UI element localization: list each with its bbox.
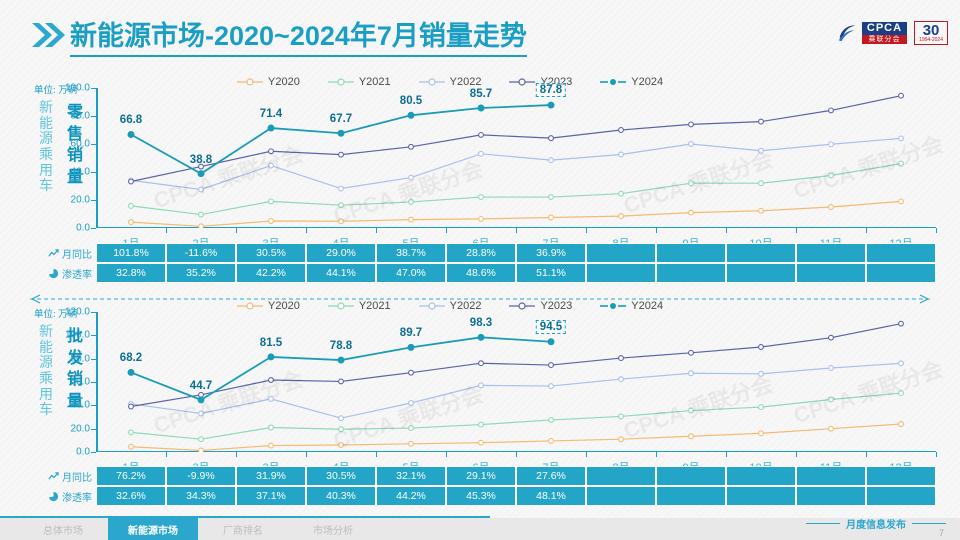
cpca-mark-icon <box>836 22 858 44</box>
data-point <box>899 199 904 204</box>
data-point <box>829 366 834 371</box>
legend-swatch-y2023 <box>507 76 537 88</box>
data-point <box>269 199 274 204</box>
row-header: 渗透率 <box>48 263 94 283</box>
row-header: 月同比 <box>48 243 94 263</box>
table-cell <box>866 263 936 283</box>
x-tick-mark <box>306 452 307 457</box>
data-point <box>689 371 694 376</box>
row-header: 月同比 <box>48 466 94 486</box>
pie-chart-icon <box>48 268 59 279</box>
x-tick-mark <box>936 228 937 233</box>
series-y2021 <box>129 161 904 217</box>
legend-wholesale: Y2020Y2021Y2022Y2023Y2024 <box>235 300 663 312</box>
data-point <box>408 344 414 350</box>
table-retail: 月同比101.8%-11.6%30.5%29.0%38.7%28.8%36.9%… <box>96 243 936 283</box>
table-cell: 29.1% <box>446 466 516 486</box>
data-point <box>899 161 904 166</box>
table-cell: 32.8% <box>96 263 166 283</box>
data-point <box>199 187 204 192</box>
data-point <box>619 414 624 419</box>
legend-label-y2021: Y2021 <box>359 76 391 88</box>
data-point <box>759 431 764 436</box>
data-point <box>129 203 134 208</box>
table-cell <box>656 263 726 283</box>
row-header-label: 月同比 <box>62 469 92 484</box>
footer-label: 月度信息发布 <box>846 516 906 531</box>
legend-swatch-y2023 <box>507 300 537 312</box>
data-point <box>409 426 414 431</box>
table-cell: 48.6% <box>446 263 516 283</box>
legend-item-y2020[interactable]: Y2020 <box>235 300 300 312</box>
data-point <box>549 439 554 444</box>
data-point <box>548 102 554 108</box>
data-point <box>619 214 624 219</box>
data-point <box>339 203 344 208</box>
table-cell: -11.6% <box>166 243 236 263</box>
data-point <box>549 384 554 389</box>
data-point-label: 71.4 <box>260 108 282 120</box>
cpca-logo: CPCA 乘联分会 <box>836 22 907 44</box>
data-point <box>479 151 484 156</box>
data-point <box>269 443 274 448</box>
data-point <box>899 93 904 98</box>
table-row: 渗透率32.6%34.3%37.1%40.3%44.2%45.3%48.1% <box>96 486 936 506</box>
data-point <box>479 195 484 200</box>
data-point <box>268 125 274 131</box>
table-cell: 51.1% <box>516 263 586 283</box>
x-tick-mark <box>376 228 377 233</box>
legend-item-y2024[interactable]: Y2024 <box>598 76 663 88</box>
footer-tab[interactable]: 新能源市场 <box>108 518 198 540</box>
table-cell: 37.1% <box>236 486 306 506</box>
y-tick-label: 80.0 <box>71 353 90 364</box>
data-point <box>479 422 484 427</box>
y-tick-label: 120.0 <box>65 307 90 318</box>
y-tick-label: 60.0 <box>71 139 90 150</box>
data-point <box>128 131 134 137</box>
legend-label-y2024: Y2024 <box>631 76 663 88</box>
row-header-label: 月同比 <box>62 246 92 261</box>
series-y2022 <box>129 361 904 421</box>
data-point <box>479 133 484 138</box>
data-point <box>549 363 554 368</box>
x-tick-mark <box>446 228 447 233</box>
slide-canvas: 新能源市场-2020~2024年7月销量走势 CPCA 乘联分会 30 1994… <box>0 0 960 540</box>
series-y2020 <box>129 422 904 452</box>
data-point-label: 80.5 <box>400 95 422 107</box>
data-point <box>129 404 134 409</box>
series-y2023 <box>129 321 904 409</box>
data-point <box>829 108 834 113</box>
x-tick-mark <box>516 228 517 233</box>
data-point <box>689 181 694 186</box>
data-point <box>689 434 694 439</box>
y-tick-label: 80.0 <box>71 111 90 122</box>
table-cell: 45.3% <box>446 486 516 506</box>
footer-tab[interactable]: 总体市场 <box>18 518 108 540</box>
data-point <box>689 122 694 127</box>
table-cell: 101.8% <box>96 243 166 263</box>
data-point-label: 68.2 <box>120 352 142 364</box>
data-point <box>619 191 624 196</box>
legend-item-y2024[interactable]: Y2024 <box>598 300 663 312</box>
data-point-label: 78.8 <box>330 340 352 352</box>
data-point <box>339 152 344 157</box>
table-cell: 48.1% <box>516 486 586 506</box>
table-cell: 34.3% <box>166 486 236 506</box>
table-cell <box>586 243 656 263</box>
table-cell: 32.1% <box>376 466 446 486</box>
x-tick-mark <box>236 228 237 233</box>
data-point <box>759 405 764 410</box>
data-point <box>199 212 204 217</box>
table-row: 月同比101.8%-11.6%30.5%29.0%38.7%28.8%36.9% <box>96 243 936 263</box>
data-point-label: 67.7 <box>330 113 352 125</box>
data-point <box>198 171 204 177</box>
table-cell <box>726 486 796 506</box>
data-point-label: 66.8 <box>120 114 142 126</box>
anniversary-years: 1994-2024 <box>919 38 943 43</box>
data-point <box>549 418 554 423</box>
data-point <box>129 444 134 449</box>
y-tick-label: 40.0 <box>71 167 90 178</box>
chart-plot-retail: 0.020.040.060.080.0100.01月2月3月4月5月6月7月8月… <box>96 88 936 228</box>
data-point <box>129 220 134 225</box>
line-chart-icon <box>48 248 59 259</box>
table-cell: 30.5% <box>236 243 306 263</box>
legend-swatch-y2021 <box>326 300 356 312</box>
x-tick-mark <box>726 452 727 457</box>
data-point <box>829 173 834 178</box>
legend-swatch-y2022 <box>417 300 447 312</box>
data-point <box>269 149 274 154</box>
data-point <box>339 443 344 448</box>
data-point <box>199 224 204 228</box>
footer-tabs[interactable]: 总体市场新能源市场厂商排名市场分析 <box>18 518 378 540</box>
data-point <box>899 321 904 326</box>
table-cell: 44.2% <box>376 486 446 506</box>
legend-item-y2023[interactable]: Y2023 <box>507 300 572 312</box>
data-point <box>829 426 834 431</box>
data-point-label: 89.7 <box>400 327 422 339</box>
data-point-label: 44.7 <box>190 380 212 392</box>
page-title: 新能源市场-2020~2024年7月销量走势 <box>70 14 527 57</box>
data-point <box>829 397 834 402</box>
legend-item-y2022[interactable]: Y2022 <box>417 76 482 88</box>
footer-right: 月度信息发布 <box>806 516 946 531</box>
data-point <box>478 105 484 111</box>
row-header-label: 渗透率 <box>62 489 92 504</box>
x-tick-mark <box>656 228 657 233</box>
data-point <box>689 350 694 355</box>
data-point <box>619 356 624 361</box>
data-point <box>759 208 764 213</box>
data-point-label: 38.8 <box>190 154 212 166</box>
table-cell <box>796 466 866 486</box>
table-cell: 36.9% <box>516 243 586 263</box>
table-cell <box>726 263 796 283</box>
legend-swatch-y2020 <box>235 76 265 88</box>
data-point <box>338 130 344 136</box>
table-cell: 35.2% <box>166 263 236 283</box>
data-point <box>198 397 204 403</box>
y-tick-label: 0.0 <box>76 447 90 458</box>
legend-swatch-y2020 <box>235 300 265 312</box>
category-label-retail: 新能源乘用车 <box>36 100 56 194</box>
data-point <box>339 186 344 191</box>
table-cell: 30.5% <box>306 466 376 486</box>
data-point <box>409 200 414 205</box>
table-cell <box>796 486 866 506</box>
legend-swatch-y2024 <box>598 76 628 88</box>
double-chevron-right-icon <box>30 20 66 50</box>
y-tick-label: 40.0 <box>71 400 90 411</box>
footer-tab[interactable]: 厂商排名 <box>198 518 288 540</box>
data-point <box>689 142 694 147</box>
legend-swatch-y2022 <box>417 76 447 88</box>
table-cell: 27.6% <box>516 466 586 486</box>
table-cell: 42.2% <box>236 263 306 283</box>
legend-item-y2022[interactable]: Y2022 <box>417 300 482 312</box>
x-tick-mark <box>306 228 307 233</box>
data-point <box>619 377 624 382</box>
data-point-label: 81.5 <box>260 337 282 349</box>
x-tick-mark <box>796 452 797 457</box>
x-tick-mark <box>236 452 237 457</box>
table-cell <box>726 243 796 263</box>
cpca-subname: 乘联分会 <box>862 35 907 44</box>
table-cell: -9.9% <box>166 466 236 486</box>
line-chart-icon <box>48 471 59 482</box>
header: 新能源市场-2020~2024年7月销量走势 CPCA 乘联分会 30 1994… <box>0 0 960 66</box>
x-tick-mark <box>656 452 657 457</box>
data-point <box>129 430 134 435</box>
data-point <box>759 371 764 376</box>
data-point <box>199 448 204 452</box>
table-cell: 29.0% <box>306 243 376 263</box>
category-label-wholesale: 新能源乘用车 <box>36 324 56 418</box>
data-point <box>549 195 554 200</box>
footer-line-right <box>912 523 946 524</box>
data-point <box>899 422 904 427</box>
data-point-label: 85.7 <box>470 88 492 100</box>
table-cell <box>796 263 866 283</box>
table-cell <box>586 486 656 506</box>
legend-label-y2023: Y2023 <box>540 300 572 312</box>
data-point <box>128 369 134 375</box>
x-tick-mark <box>796 228 797 233</box>
x-tick-mark <box>866 228 867 233</box>
table-cell: 38.7% <box>376 243 446 263</box>
data-point <box>549 136 554 141</box>
x-tick-mark <box>936 452 937 457</box>
table-cell <box>656 243 726 263</box>
data-point <box>199 411 204 416</box>
anniversary-badge: 30 1994-2024 <box>914 21 948 45</box>
data-point <box>759 345 764 350</box>
data-point <box>479 383 484 388</box>
data-point <box>479 361 484 366</box>
y-tick-mark <box>91 452 96 453</box>
data-point-label: 98.3 <box>470 317 492 329</box>
page-number: 7 <box>939 528 944 538</box>
x-tick-mark <box>376 452 377 457</box>
table-cell: 40.3% <box>306 486 376 506</box>
table-cell: 47.0% <box>376 263 446 283</box>
data-point <box>479 440 484 445</box>
footer-tab[interactable]: 市场分析 <box>288 518 378 540</box>
footer-line-left <box>806 523 840 524</box>
table-row: 月同比76.2%-9.9%31.9%30.5%32.1%29.1%27.6% <box>96 466 936 486</box>
legend-label-y2022: Y2022 <box>450 300 482 312</box>
data-point <box>409 370 414 375</box>
data-point <box>899 361 904 366</box>
data-point <box>689 408 694 413</box>
data-point <box>339 379 344 384</box>
table-cell <box>656 486 726 506</box>
x-tick-mark <box>446 452 447 457</box>
legend-item-y2020[interactable]: Y2020 <box>235 76 300 88</box>
row-header-label: 渗透率 <box>62 266 92 281</box>
table-cell: 28.8% <box>446 243 516 263</box>
data-point <box>129 179 134 184</box>
legend-label-y2022: Y2022 <box>450 76 482 88</box>
legend-label-y2020: Y2020 <box>268 300 300 312</box>
table-cell: 76.2% <box>96 466 166 486</box>
table-cell <box>586 466 656 486</box>
x-tick-mark <box>586 452 587 457</box>
series-layer <box>96 88 936 228</box>
data-point <box>339 427 344 432</box>
data-point <box>619 437 624 442</box>
data-point <box>269 425 274 430</box>
data-point <box>549 158 554 163</box>
table-cell <box>866 243 936 263</box>
table-cell <box>796 243 866 263</box>
table-cell <box>866 466 936 486</box>
y-tick-label: 100.0 <box>65 83 90 94</box>
legend-label-y2021: Y2021 <box>359 300 391 312</box>
legend-swatch-y2024 <box>598 300 628 312</box>
table-wholesale: 月同比76.2%-9.9%31.9%30.5%32.1%29.1%27.6%渗透… <box>96 466 936 506</box>
legend-retail: Y2020Y2021Y2022Y2023Y2024 <box>235 76 663 88</box>
table-row: 渗透率32.8%35.2%42.2%44.1%47.0%48.6%51.1% <box>96 263 936 283</box>
data-point <box>338 357 344 363</box>
data-point <box>549 215 554 220</box>
data-point <box>899 136 904 141</box>
data-point <box>408 112 414 118</box>
data-point <box>478 334 484 340</box>
data-point-label: 94.5 <box>536 320 566 334</box>
cpca-name: CPCA <box>862 22 907 35</box>
y-tick-label: 20.0 <box>71 195 90 206</box>
table-cell <box>866 486 936 506</box>
data-point <box>409 175 414 180</box>
data-point <box>269 397 274 402</box>
row-header: 渗透率 <box>48 486 94 506</box>
table-cell <box>726 466 796 486</box>
y-tick-label: 100.0 <box>65 330 90 341</box>
data-point <box>759 148 764 153</box>
table-cell: 31.9% <box>236 466 306 486</box>
data-point <box>269 378 274 383</box>
data-point <box>829 335 834 340</box>
x-tick-mark <box>166 452 167 457</box>
data-point <box>268 354 274 360</box>
x-tick-mark <box>726 228 727 233</box>
pie-chart-icon <box>48 491 59 502</box>
chart-plot-wholesale: 0.020.040.060.080.0100.0120.01月2月3月4月5月6… <box>96 312 936 452</box>
data-point <box>829 142 834 147</box>
logo-group: CPCA 乘联分会 30 1994-2024 <box>836 18 948 48</box>
data-point <box>548 339 554 345</box>
data-point <box>339 416 344 421</box>
data-point <box>409 441 414 446</box>
data-point <box>269 163 274 168</box>
legend-label-y2020: Y2020 <box>268 76 300 88</box>
anniversary-number: 30 <box>923 23 940 38</box>
y-tick-label: 0.0 <box>76 223 90 234</box>
series-y2020 <box>129 199 904 228</box>
legend-item-y2021[interactable]: Y2021 <box>326 300 391 312</box>
x-tick-mark <box>866 452 867 457</box>
data-point-label: 87.8 <box>536 83 566 97</box>
legend-item-y2021[interactable]: Y2021 <box>326 76 391 88</box>
table-cell <box>586 263 656 283</box>
legend-label-y2024: Y2024 <box>631 300 663 312</box>
data-point <box>339 219 344 224</box>
data-point <box>409 144 414 149</box>
data-point <box>899 391 904 396</box>
y-tick-mark <box>91 228 96 229</box>
data-point <box>269 219 274 224</box>
x-tick-mark <box>166 228 167 233</box>
y-tick-label: 60.0 <box>71 377 90 388</box>
data-point <box>689 210 694 215</box>
data-point <box>619 128 624 133</box>
series-y2021 <box>129 391 904 442</box>
table-cell <box>656 466 726 486</box>
data-point <box>619 152 624 157</box>
data-point <box>409 401 414 406</box>
data-point <box>829 205 834 210</box>
table-cell: 32.6% <box>96 486 166 506</box>
x-tick-mark <box>516 452 517 457</box>
data-point <box>409 217 414 222</box>
table-cell: 44.1% <box>306 263 376 283</box>
y-tick-label: 20.0 <box>71 423 90 434</box>
data-point <box>479 217 484 222</box>
data-point <box>759 119 764 124</box>
legend-swatch-y2021 <box>326 76 356 88</box>
data-point <box>199 437 204 442</box>
x-tick-mark <box>586 228 587 233</box>
data-point <box>759 181 764 186</box>
series-layer <box>96 312 936 452</box>
